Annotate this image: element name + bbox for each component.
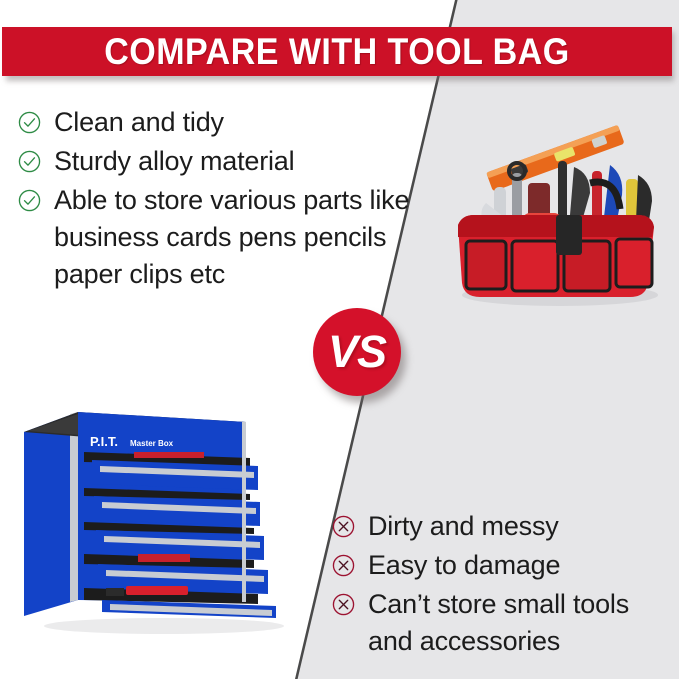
pros-list: Clean and tidy Sturdy alloy material Abl…	[18, 104, 418, 295]
cons-item-text: Can’t store small tools and accessories	[368, 586, 672, 660]
list-item: Clean and tidy	[18, 104, 418, 141]
cons-item-text: Dirty and messy	[368, 508, 559, 545]
pros-item-text: Sturdy alloy material	[54, 143, 294, 180]
x-circle-icon	[332, 593, 355, 616]
x-circle-icon	[332, 554, 355, 577]
check-circle-icon	[18, 189, 41, 212]
list-item: Able to store various parts like busines…	[18, 182, 418, 293]
tool-chest-image: P.I.T. Master Box	[14, 404, 302, 636]
versus-badge: VS	[313, 308, 401, 396]
brand-label: P.I.T.	[90, 434, 118, 449]
list-item: Easy to damage	[332, 547, 672, 584]
check-circle-icon	[18, 150, 41, 173]
x-circle-icon	[332, 515, 355, 538]
list-item: Sturdy alloy material	[18, 143, 418, 180]
page-title: COMPARE WITH TOOL BAG	[104, 31, 569, 73]
versus-label: VS	[328, 326, 386, 378]
header-banner: COMPARE WITH TOOL BAG	[2, 27, 672, 76]
list-item: Can’t store small tools and accessories	[332, 586, 672, 660]
cons-list: Dirty and messy Easy to damage Can’t sto…	[332, 508, 672, 662]
pros-item-text: Clean and tidy	[54, 104, 224, 141]
list-item: Dirty and messy	[332, 508, 672, 545]
pros-item-text: Able to store various parts like busines…	[54, 182, 418, 293]
check-circle-icon	[18, 111, 41, 134]
comparison-infographic: COMPARE WITH TOOL BAG Clean and tidy Stu…	[0, 0, 679, 679]
brand-sub-label: Master Box	[130, 439, 174, 448]
tool-bag-image	[440, 95, 672, 310]
cons-item-text: Easy to damage	[368, 547, 560, 584]
